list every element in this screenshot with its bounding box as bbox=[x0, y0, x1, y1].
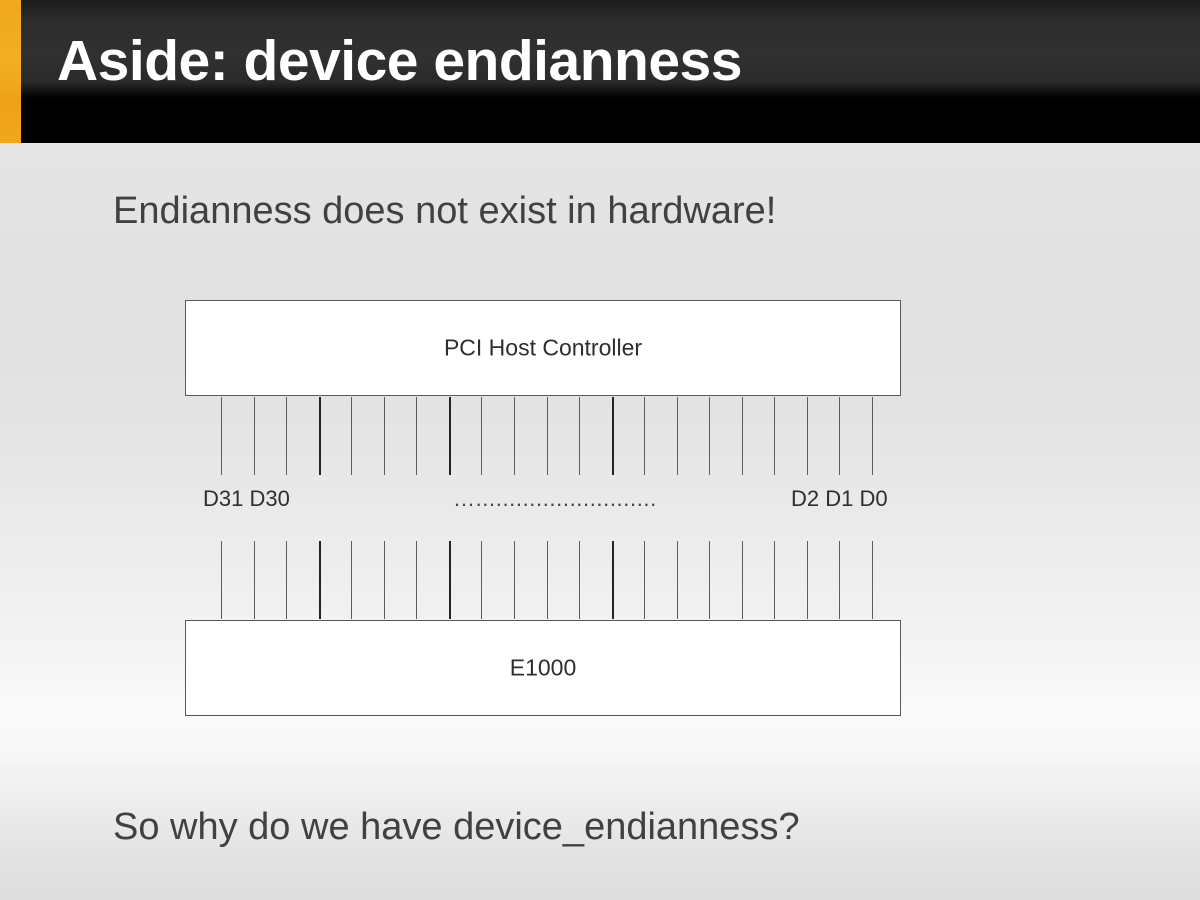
slide: Aside: device endianness Endianness does… bbox=[0, 0, 1200, 900]
bus-pin-line bbox=[742, 541, 743, 619]
bus-pin-line bbox=[644, 397, 645, 475]
bus-pin-line bbox=[644, 541, 645, 619]
e1000-device-box: E1000 bbox=[185, 620, 901, 716]
pci-host-controller-box: PCI Host Controller bbox=[185, 300, 901, 396]
e1000-device-label: E1000 bbox=[186, 655, 900, 682]
bus-pin-line bbox=[677, 397, 678, 475]
bus-pin-line bbox=[384, 541, 385, 619]
bus-pin-line bbox=[872, 541, 873, 619]
bus-pin-line bbox=[351, 541, 352, 619]
bus-pin-line bbox=[579, 541, 580, 619]
pin-group-bottom bbox=[185, 541, 901, 619]
bus-pin-line bbox=[481, 397, 482, 475]
bus-pin-line bbox=[872, 397, 873, 475]
bus-pin-line bbox=[579, 397, 580, 475]
bus-pin-line bbox=[384, 397, 385, 475]
bus-pin-line bbox=[612, 541, 614, 619]
question-text: So why do we have device_endianness? bbox=[113, 806, 800, 849]
bus-pin-line bbox=[254, 397, 255, 475]
bus-pin-line bbox=[807, 541, 808, 619]
bus-pin-line bbox=[839, 541, 840, 619]
bus-pin-line bbox=[839, 397, 840, 475]
bus-pin-line bbox=[416, 397, 417, 475]
endianness-diagram: PCI Host Controller D31 D30 …...........… bbox=[185, 300, 903, 718]
bus-pin-line bbox=[547, 541, 548, 619]
bus-pin-line bbox=[807, 397, 808, 475]
bus-pin-line bbox=[774, 397, 775, 475]
headline-text: Endianness does not exist in hardware! bbox=[113, 190, 776, 233]
bus-pin-line bbox=[774, 541, 775, 619]
bus-pin-line bbox=[221, 397, 222, 475]
pin-group-top bbox=[185, 397, 901, 475]
pin-label-left: D31 D30 bbox=[203, 486, 290, 512]
bus-pin-line bbox=[319, 541, 321, 619]
bus-pin-line bbox=[677, 541, 678, 619]
bus-pin-line bbox=[742, 397, 743, 475]
bus-pin-line bbox=[612, 397, 614, 475]
bus-pin-line bbox=[709, 541, 710, 619]
bus-pin-line bbox=[319, 397, 321, 475]
pci-host-controller-label: PCI Host Controller bbox=[186, 335, 900, 362]
bus-pin-line bbox=[514, 541, 515, 619]
bus-pin-line bbox=[481, 541, 482, 619]
page-title: Aside: device endianness bbox=[57, 33, 1157, 90]
bus-pin-line bbox=[221, 541, 222, 619]
pin-label-row: D31 D30 …........................... D2 … bbox=[185, 486, 901, 530]
bus-pin-line bbox=[449, 541, 451, 619]
pin-label-right: D2 D1 D0 bbox=[791, 486, 888, 512]
bus-pin-line bbox=[514, 397, 515, 475]
bus-pin-line bbox=[286, 397, 287, 475]
bus-pin-line bbox=[449, 397, 451, 475]
bus-pin-line bbox=[547, 397, 548, 475]
bus-pin-line bbox=[709, 397, 710, 475]
bus-pin-line bbox=[254, 541, 255, 619]
bus-pin-line bbox=[286, 541, 287, 619]
header-accent-bar bbox=[0, 0, 21, 143]
bus-pin-line bbox=[416, 541, 417, 619]
pin-label-ellipsis: …........................... bbox=[453, 486, 657, 512]
bus-pin-line bbox=[351, 397, 352, 475]
